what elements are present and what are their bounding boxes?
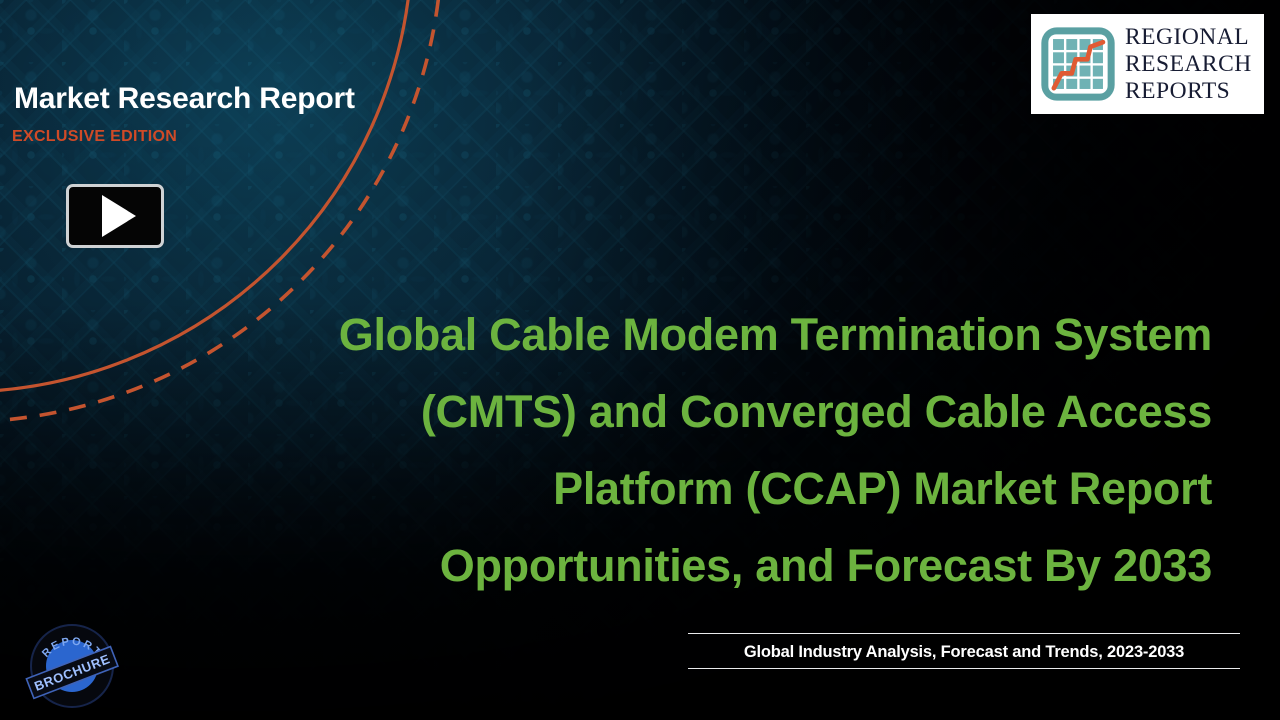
page-title-line-4: Opportunities, and Forecast By 2033 (70, 527, 1212, 604)
brand-line-2: RESEARCH (1125, 51, 1252, 78)
page-title-line-2: (CMTS) and Converged Cable Access (70, 373, 1212, 450)
brand-logo-text: REGIONAL RESEARCH REPORTS (1125, 24, 1252, 105)
page-title-line-3: Platform (CCAP) Market Report (70, 450, 1212, 527)
page-title: Global Cable Modem Termination System (C… (70, 296, 1212, 604)
brand-logo[interactable]: REGIONAL RESEARCH REPORTS (1031, 14, 1264, 114)
page-title-line-1: Global Cable Modem Termination System (70, 296, 1212, 373)
caption-text: Global Industry Analysis, Forecast and T… (688, 634, 1240, 668)
play-icon (102, 195, 136, 237)
kicker-title: Market Research Report (14, 82, 355, 116)
report-cover-slide: Market Research Report EXCLUSIVE EDITION (0, 0, 1280, 720)
edition-label: EXCLUSIVE EDITION (12, 128, 177, 146)
brand-line-1: REGIONAL (1125, 24, 1252, 51)
play-video-button[interactable] (66, 184, 164, 248)
caption-rule-bottom (688, 668, 1240, 669)
subtitle-caption: Global Industry Analysis, Forecast and T… (688, 633, 1240, 669)
grid-chart-icon (1039, 25, 1117, 103)
report-brochure-stamp[interactable]: REPORT BROCHURE (22, 620, 122, 712)
brand-line-3: REPORTS (1125, 78, 1252, 105)
